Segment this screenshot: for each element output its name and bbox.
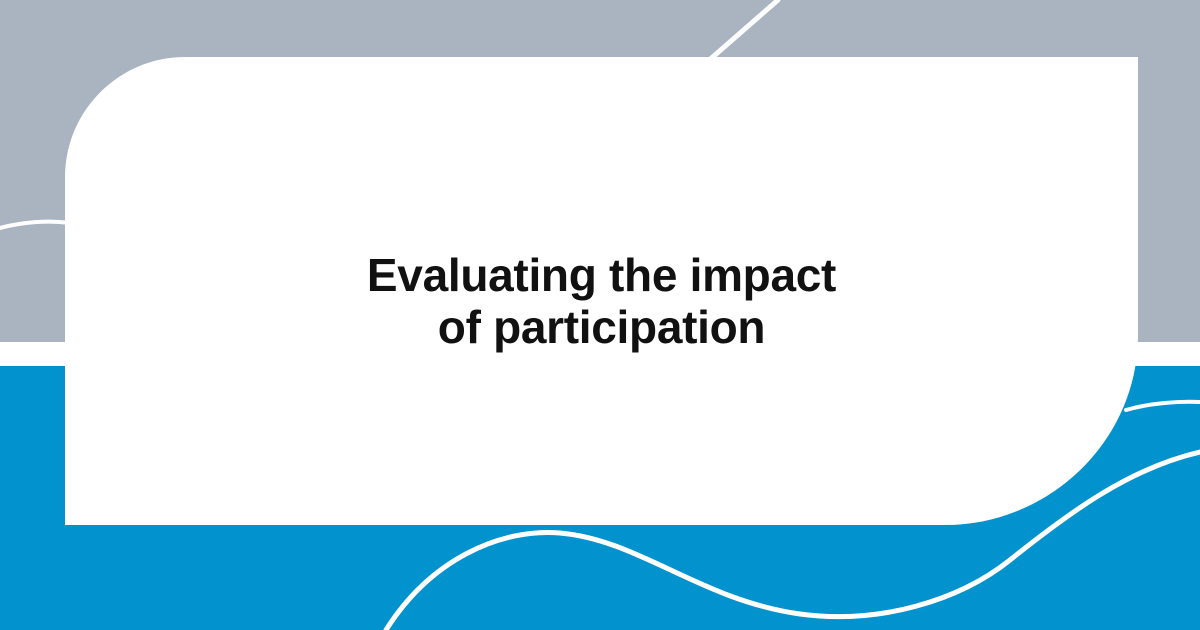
banner-canvas: Evaluating the impact of participation bbox=[0, 0, 1200, 630]
white-content-card bbox=[65, 57, 1138, 525]
background-artwork bbox=[0, 0, 1200, 630]
